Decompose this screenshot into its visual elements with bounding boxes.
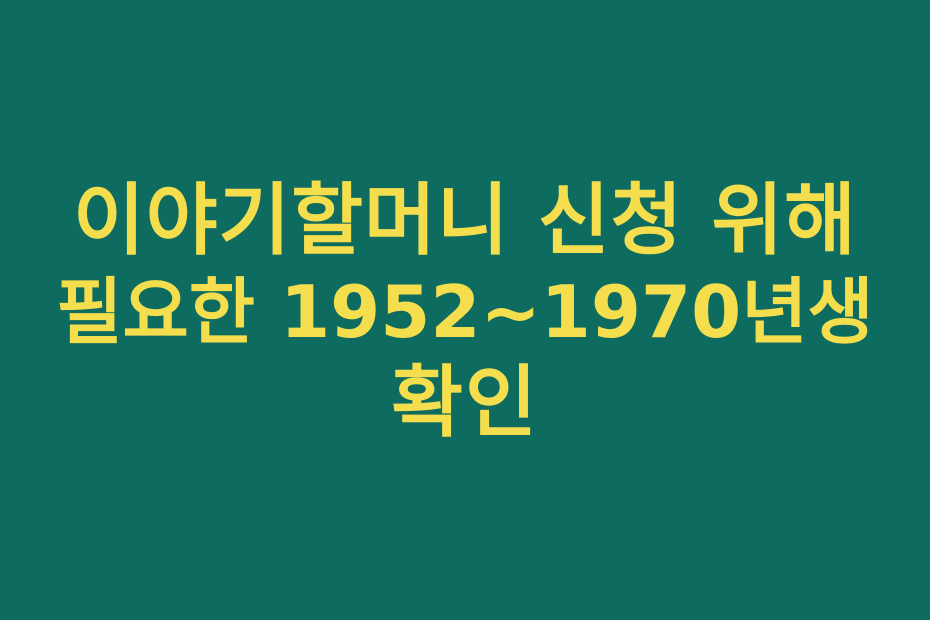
banner-card: 이야기할머니 신청 위해 필요한 1952~1970년생 확인: [0, 0, 930, 620]
headline-line-3: 확인: [55, 358, 875, 449]
headline-block: 이야기할머니 신청 위해 필요한 1952~1970년생 확인: [55, 176, 875, 449]
headline-line-2: 필요한 1952~1970년생: [55, 267, 875, 358]
headline-line-1: 이야기할머니 신청 위해: [55, 176, 875, 267]
